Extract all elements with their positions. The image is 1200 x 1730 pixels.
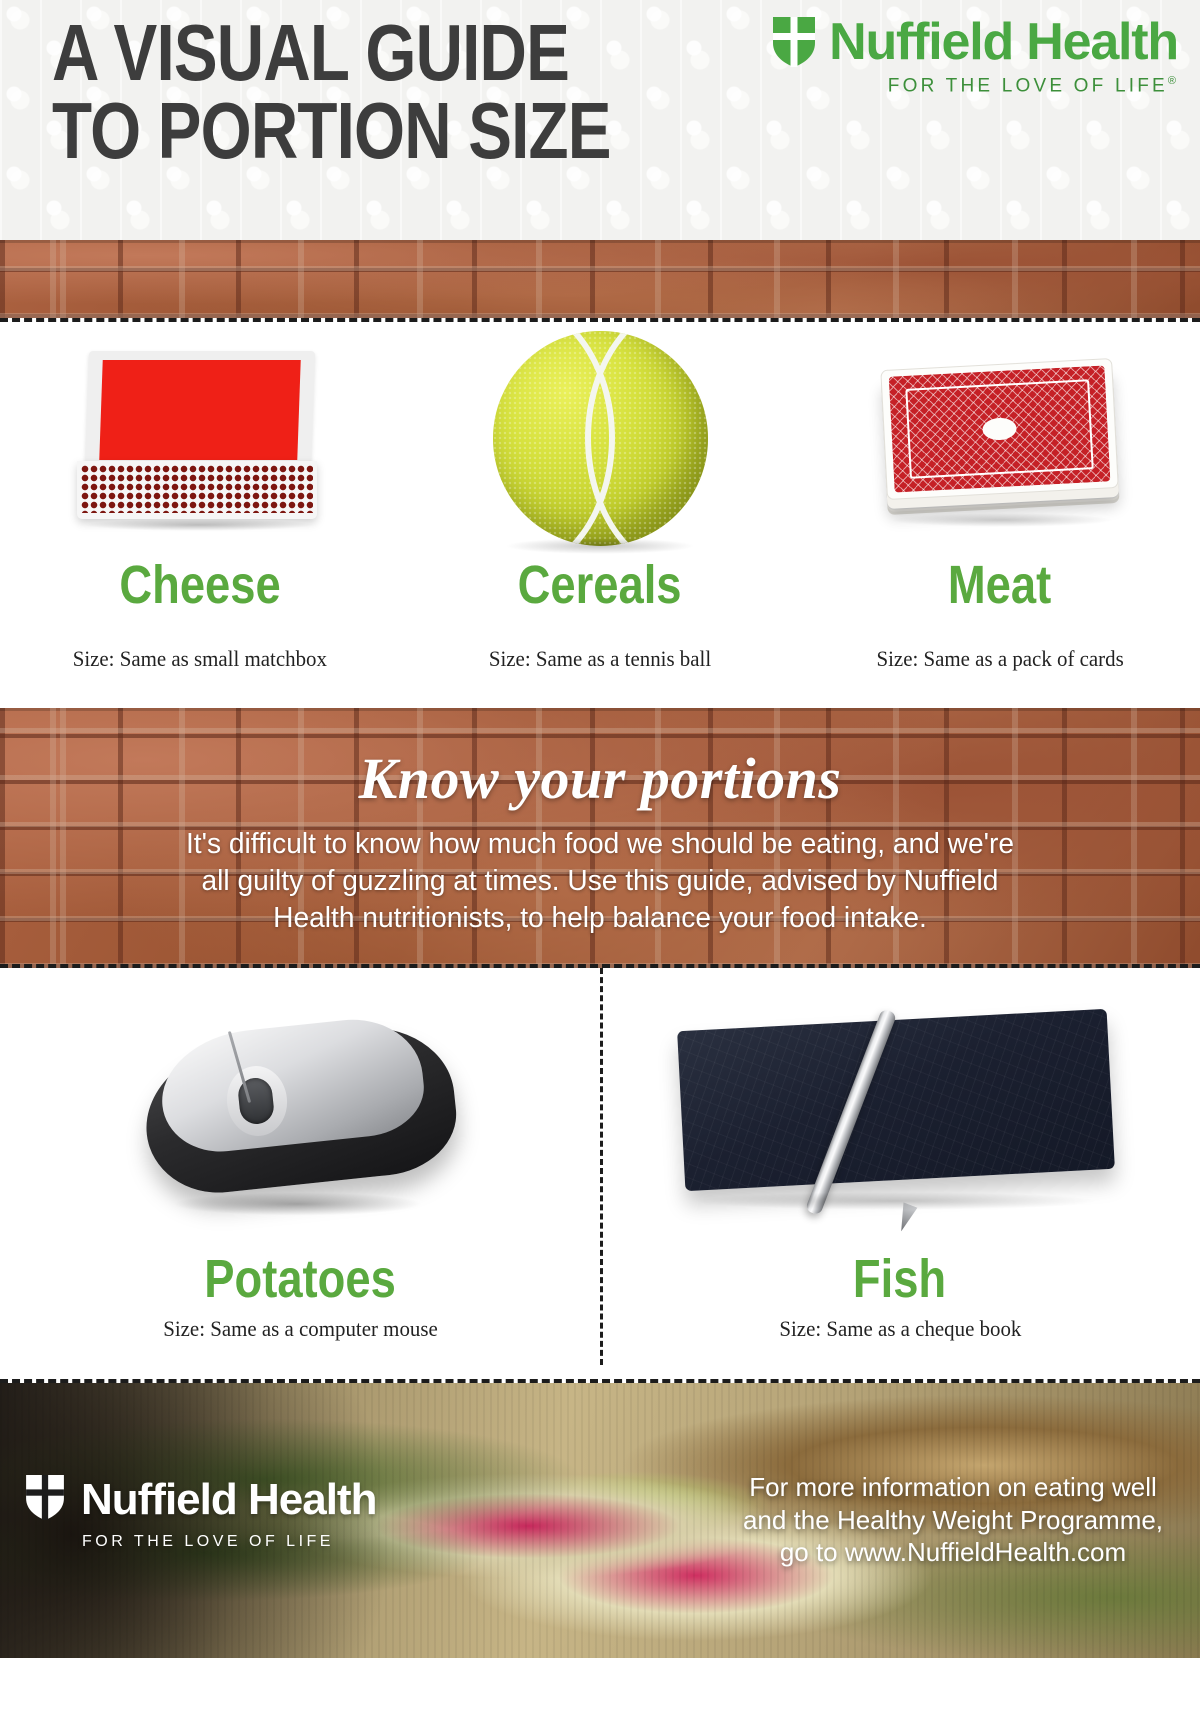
portion-card-cereals: Cereals Size: Same as a tennis ball: [400, 318, 800, 708]
matchbox-image: [0, 318, 400, 558]
know-section-body: It's difficult to know how much food we …: [173, 826, 1027, 937]
portion-card-fish: Fish Size: Same as a cheque book: [600, 968, 1200, 1383]
portion-row-2: Potatoes Size: Same as a computer mouse …: [0, 968, 1200, 1383]
logo-row: Nuffield Health: [773, 16, 1178, 68]
footer-logo-row: Nuffield Health: [26, 1475, 376, 1525]
portion-row-1: Cheese Size: Same as small matchbox Cere…: [0, 318, 1200, 708]
portion-label: Potatoes: [204, 1252, 396, 1306]
brand-tagline: FOR THE LOVE OF LIFE®: [888, 75, 1176, 97]
portion-label: Cereals: [518, 558, 682, 612]
dashed-line-bottom: [0, 1379, 1200, 1383]
portion-card-potatoes: Potatoes Size: Same as a computer mouse: [0, 968, 600, 1383]
dashed-line-top: [0, 318, 1200, 322]
portion-caption: Size: Same as a pack of cards: [876, 646, 1123, 672]
shield-icon: [26, 1475, 68, 1525]
registered-mark: ®: [1168, 75, 1176, 87]
dashed-line-below-know: [0, 964, 1200, 968]
know-section-title: Know your portions: [0, 745, 1200, 812]
page-title-line-2: TO PORTION SIZE: [52, 92, 611, 170]
page-title: A VISUAL GUIDE TO PORTION SIZE: [52, 14, 733, 169]
portion-card-meat: Meat Size: Same as a pack of cards: [800, 318, 1200, 708]
shield-icon: [773, 17, 815, 67]
portion-label: Meat: [948, 558, 1051, 612]
nuffield-health-logo: Nuffield Health FOR THE LOVE OF LIFE®: [773, 16, 1178, 97]
footer: Nuffield Health FOR THE LOVE OF LIFE For…: [0, 1383, 1200, 1658]
computer-mouse-image: [0, 968, 600, 1258]
portion-caption: Size: Same as a computer mouse: [163, 1316, 438, 1342]
portion-card-cheese: Cheese Size: Same as small matchbox: [0, 318, 400, 708]
footer-nuffield-health-logo: Nuffield Health FOR THE LOVE OF LIFE: [26, 1475, 376, 1551]
portion-label: Cheese: [119, 558, 280, 612]
portion-label: Fish: [853, 1252, 946, 1306]
infographic-page: A VISUAL GUIDE TO PORTION SIZE Nuffield …: [0, 0, 1200, 1730]
portion-caption: Size: Same as a cheque book: [779, 1316, 1021, 1342]
header: A VISUAL GUIDE TO PORTION SIZE Nuffield …: [0, 0, 1200, 240]
know-your-portions-section: Know your portions It's difficult to kno…: [0, 708, 1200, 968]
page-title-line-1: A VISUAL GUIDE: [52, 14, 611, 92]
brand-tagline-text: FOR THE LOVE OF LIFE: [888, 75, 1168, 96]
brand-name: Nuffield Health: [829, 16, 1178, 68]
footer-brand-tagline: FOR THE LOVE OF LIFE: [82, 1533, 376, 1551]
playing-cards-image: [800, 318, 1200, 558]
footer-brand-name: Nuffield Health: [81, 1478, 376, 1522]
footer-info-text: For more information on eating well and …: [738, 1471, 1168, 1569]
brick-divider-top: [0, 240, 1200, 318]
portion-caption: Size: Same as a tennis ball: [489, 646, 711, 672]
tennis-ball-image: [400, 318, 800, 558]
cheque-book-image: [600, 968, 1200, 1258]
portion-caption: Size: Same as small matchbox: [73, 646, 327, 672]
